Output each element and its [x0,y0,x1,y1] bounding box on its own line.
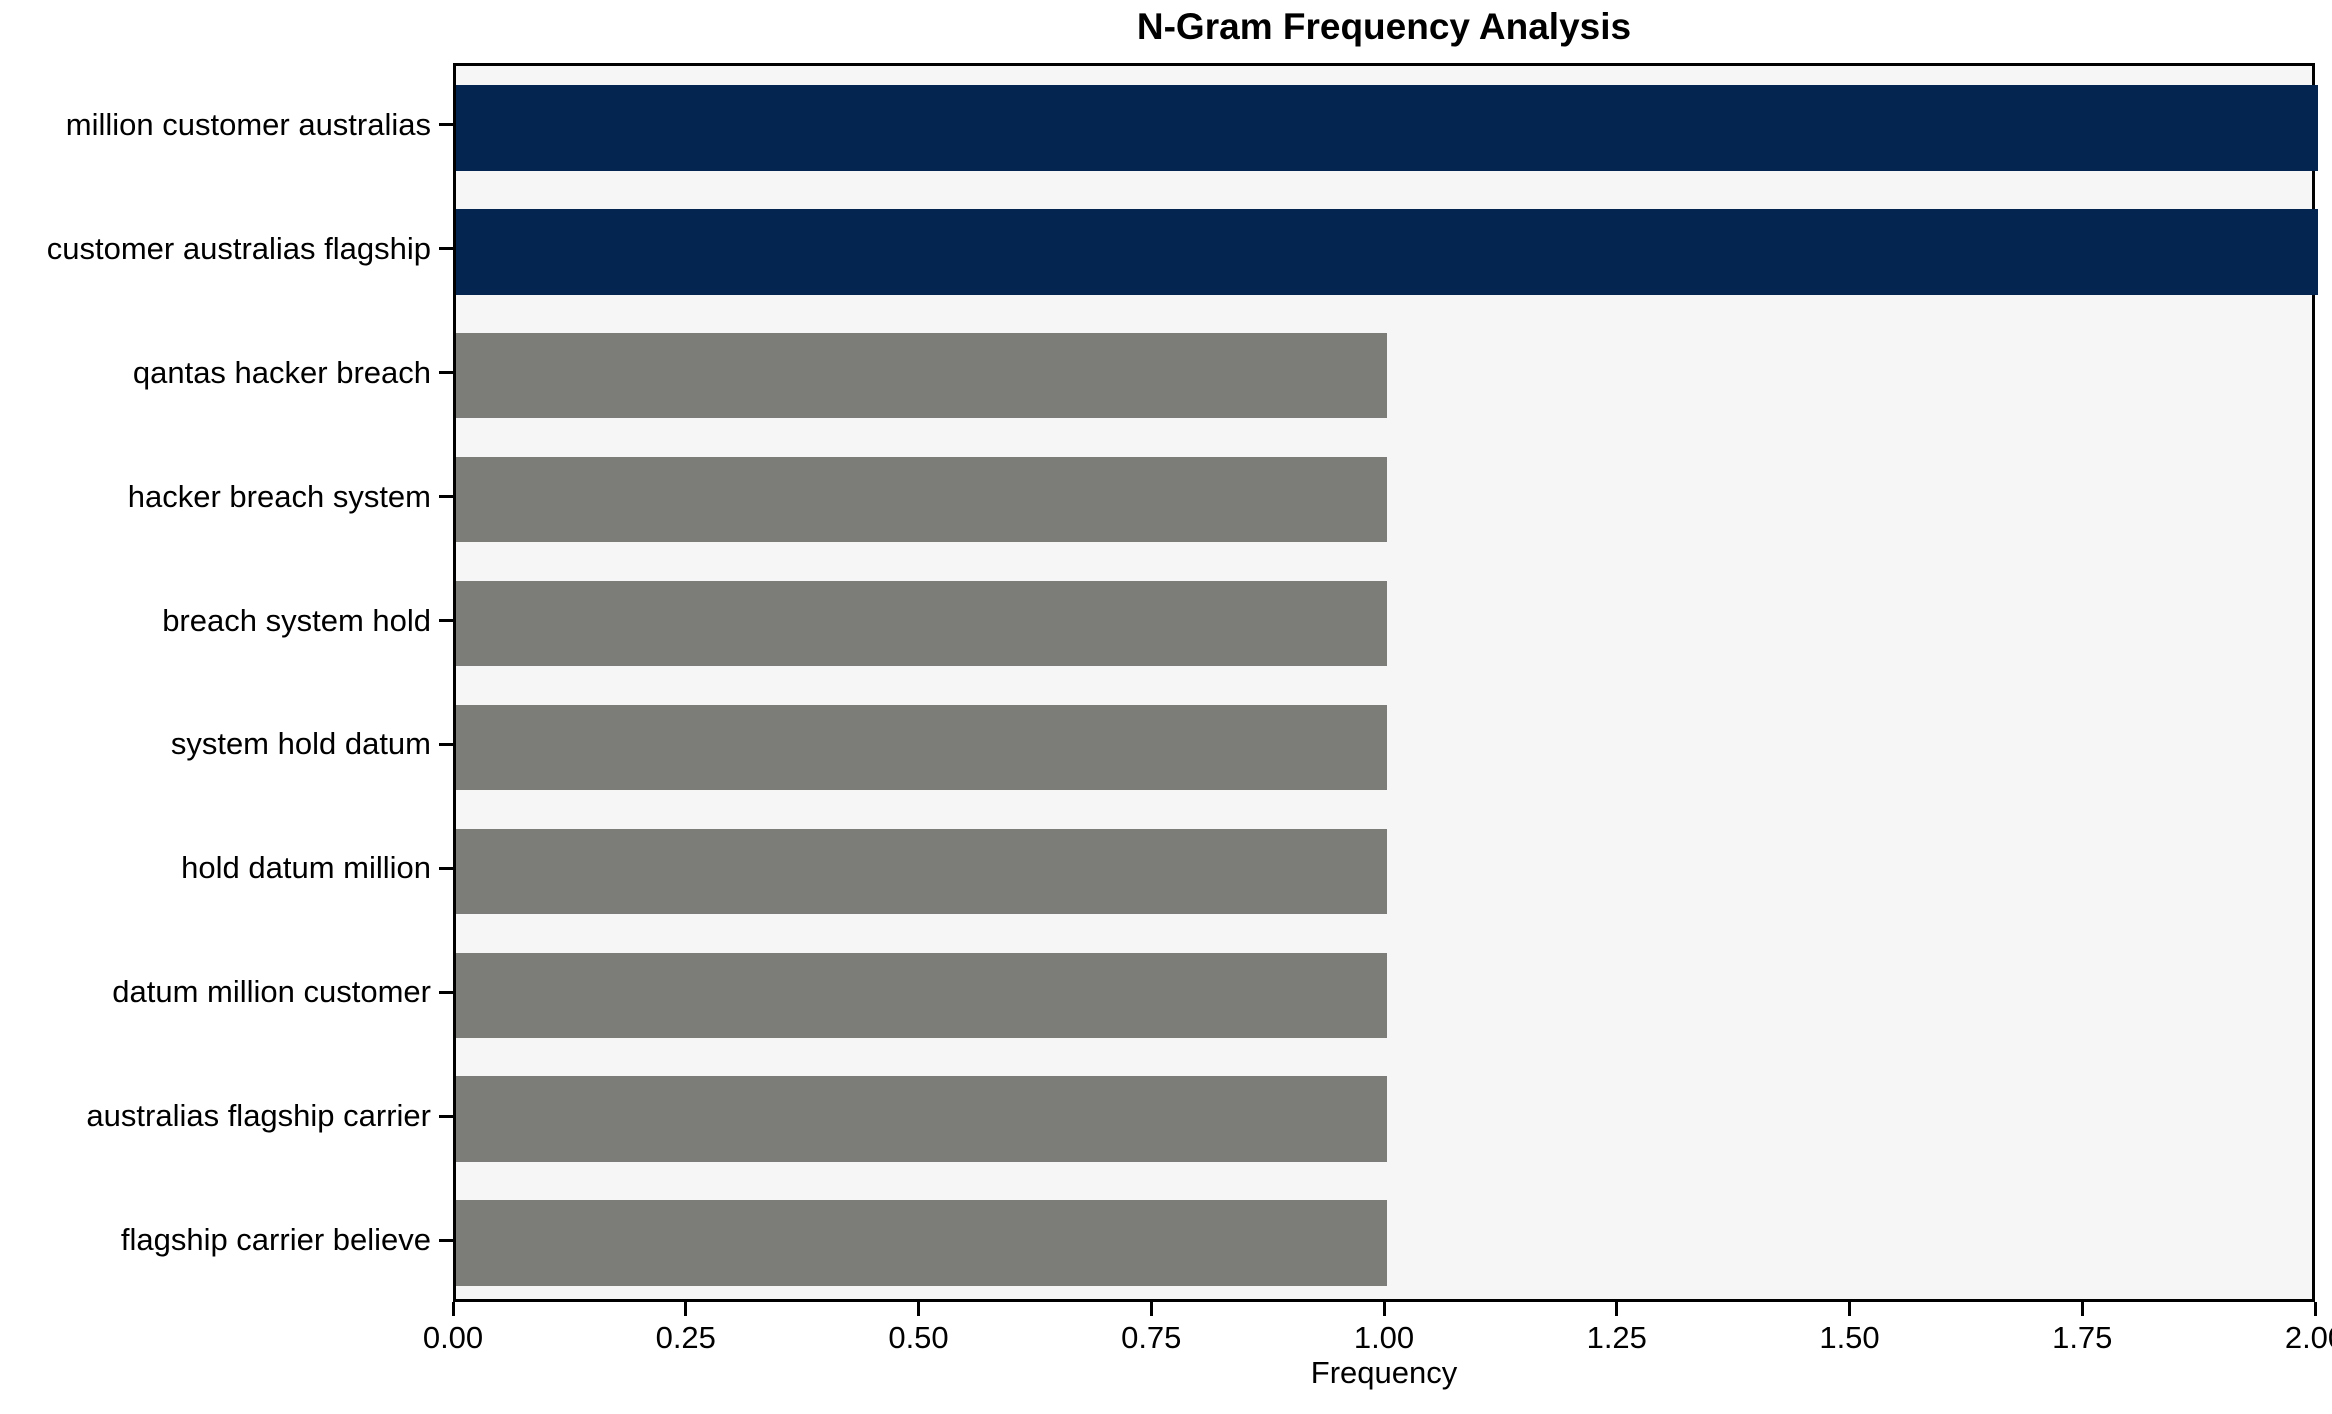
x-tick-mark [917,1302,920,1316]
y-tick-mark [439,619,453,622]
y-tick-mark [439,495,453,498]
x-tick-label: 0.00 [363,1320,543,1356]
bar [456,705,1387,790]
bar [456,1076,1387,1161]
x-tick-mark [1383,1302,1386,1316]
bar [456,209,2318,294]
x-tick-mark [1615,1302,1618,1316]
bar [456,1200,1387,1285]
x-tick-label: 2.00 [2225,1320,2332,1356]
chart-title: N-Gram Frequency Analysis [453,4,2315,50]
bar [456,457,1387,542]
y-tick-mark [439,123,453,126]
y-tick-mark [439,1239,453,1242]
x-tick-label: 0.25 [596,1320,776,1356]
x-tick-label: 0.50 [829,1320,1009,1356]
x-tick-label: 1.75 [1992,1320,2172,1356]
y-tick-mark [439,1115,453,1118]
x-tick-mark [1848,1302,1851,1316]
y-tick-mark [439,371,453,374]
x-tick-mark [1150,1302,1153,1316]
x-tick-label: 1.00 [1294,1320,1474,1356]
y-tick-label: million customer australias [66,103,431,147]
y-tick-label: qantas hacker breach [133,351,431,395]
y-tick-label: system hold datum [171,722,431,766]
bars-layer [456,66,2312,1299]
y-tick-label: datum million customer [112,970,431,1014]
chart-figure: N-Gram Frequency Analysis million custom… [0,0,2332,1414]
x-tick-mark [2081,1302,2084,1316]
y-tick-mark [439,743,453,746]
x-tick-label: 1.50 [1760,1320,1940,1356]
y-tick-mark [439,247,453,250]
y-tick-label: hacker breach system [128,475,431,519]
x-axis-title: Frequency [453,1355,2315,1391]
plot-area [453,63,2315,1302]
x-tick-label: 1.25 [1527,1320,1707,1356]
y-tick-label: hold datum million [181,846,431,890]
x-tick-mark [684,1302,687,1316]
y-tick-mark [439,991,453,994]
bar [456,333,1387,418]
y-axis: million customer australiascustomer aust… [0,63,453,1302]
y-tick-mark [439,867,453,870]
x-tick-label: 0.75 [1061,1320,1241,1356]
x-tick-mark [2314,1302,2317,1316]
bar [456,953,1387,1038]
y-tick-label: australias flagship carrier [86,1094,431,1138]
y-tick-label: customer australias flagship [47,227,431,271]
bar [456,829,1387,914]
x-tick-mark [452,1302,455,1316]
bar [456,581,1387,666]
bar [456,85,2318,170]
y-tick-label: flagship carrier believe [121,1218,431,1262]
y-tick-label: breach system hold [162,599,431,643]
